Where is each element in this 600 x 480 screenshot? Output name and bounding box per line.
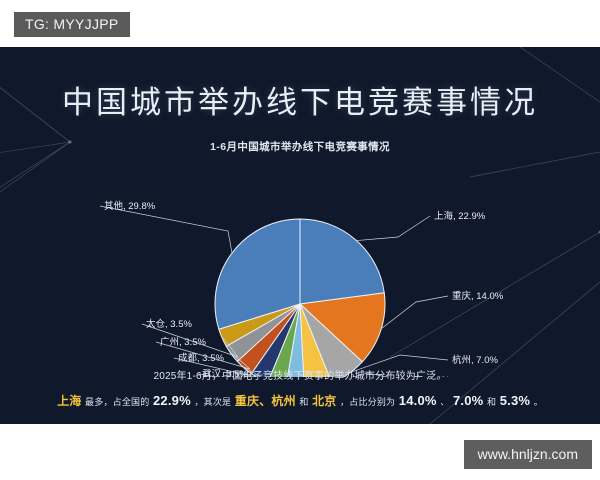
footer-text-most: 最多，占全国的 — [85, 397, 149, 407]
pie-slice-label: 杭州, 7.0% — [452, 354, 498, 366]
footer-line-2: 上海 最多，占全国的 22.9% ，其次是 重庆、杭州 和 北京 ，占比分别为 … — [0, 392, 600, 409]
pie-slice-label: 其他, 29.8% — [104, 200, 156, 212]
footer-pct-hangzhou: 7.0% — [453, 393, 483, 408]
footer-city-beijing: 北京 — [312, 394, 336, 408]
chart-subtitle: 1-6月中国城市举办线下电竞赛事情况 — [0, 139, 600, 154]
pie-leader-line — [356, 216, 431, 241]
poster-canvas: 中国城市举办线下电竞赛事情况 1-6月中国城市举办线下电竞赛事情况 上海, 22… — [0, 47, 600, 424]
footer-sep-1: 、 — [440, 397, 449, 407]
pie-leader-line — [100, 206, 232, 254]
footer-text-next: ，其次是 — [194, 397, 231, 407]
pie-chart: 上海, 22.9%重庆, 14.0%杭州, 7.0%北京, 5.3%西安, 3.… — [0, 157, 600, 377]
pie-chart-svg: 上海, 22.9%重庆, 14.0%杭州, 7.0%北京, 5.3%西安, 3.… — [0, 157, 600, 377]
page-title: 中国城市举办线下电竞赛事情况 — [0, 77, 600, 122]
footer-pct-beijing: 5.3% — [500, 393, 530, 408]
footer-period: 。 — [534, 397, 543, 407]
footer-line-1: 2025年1-6月，中国电子竞技线下赛事的举办城市分布较为广泛。 — [0, 367, 600, 382]
pie-slice-label: 太仓, 3.5% — [146, 318, 192, 330]
pie-leader-line — [380, 296, 448, 330]
footer-city-chongqing-hangzhou: 重庆、杭州 — [235, 394, 296, 408]
footer-pct-shanghai: 22.9% — [153, 393, 191, 408]
footer-city-shanghai: 上海 — [57, 394, 81, 408]
footer-pct-chongqing: 14.0% — [399, 393, 437, 408]
watermark: www.hnljzn.com — [464, 440, 592, 469]
telegram-tag: TG: MYYJJPP — [14, 12, 130, 37]
pie-slice-label: 上海, 22.9% — [434, 210, 486, 222]
pie-slice-label: 成都, 3.5% — [178, 352, 224, 364]
poster-root: TG: MYYJJPP 中国城市举办线下电竞赛事情况 1-6月中国城市举办线下电… — [0, 0, 600, 480]
pie-slice-label: 重庆, 14.0% — [452, 290, 504, 302]
footer-sep-2: 和 — [487, 397, 496, 407]
footer-text-and: 和 — [299, 397, 308, 407]
footer-text-shares: ，占比分别为 — [340, 397, 395, 407]
pie-slice-label: 广州, 3.5% — [160, 336, 206, 348]
pie-slice[interactable] — [300, 219, 384, 304]
